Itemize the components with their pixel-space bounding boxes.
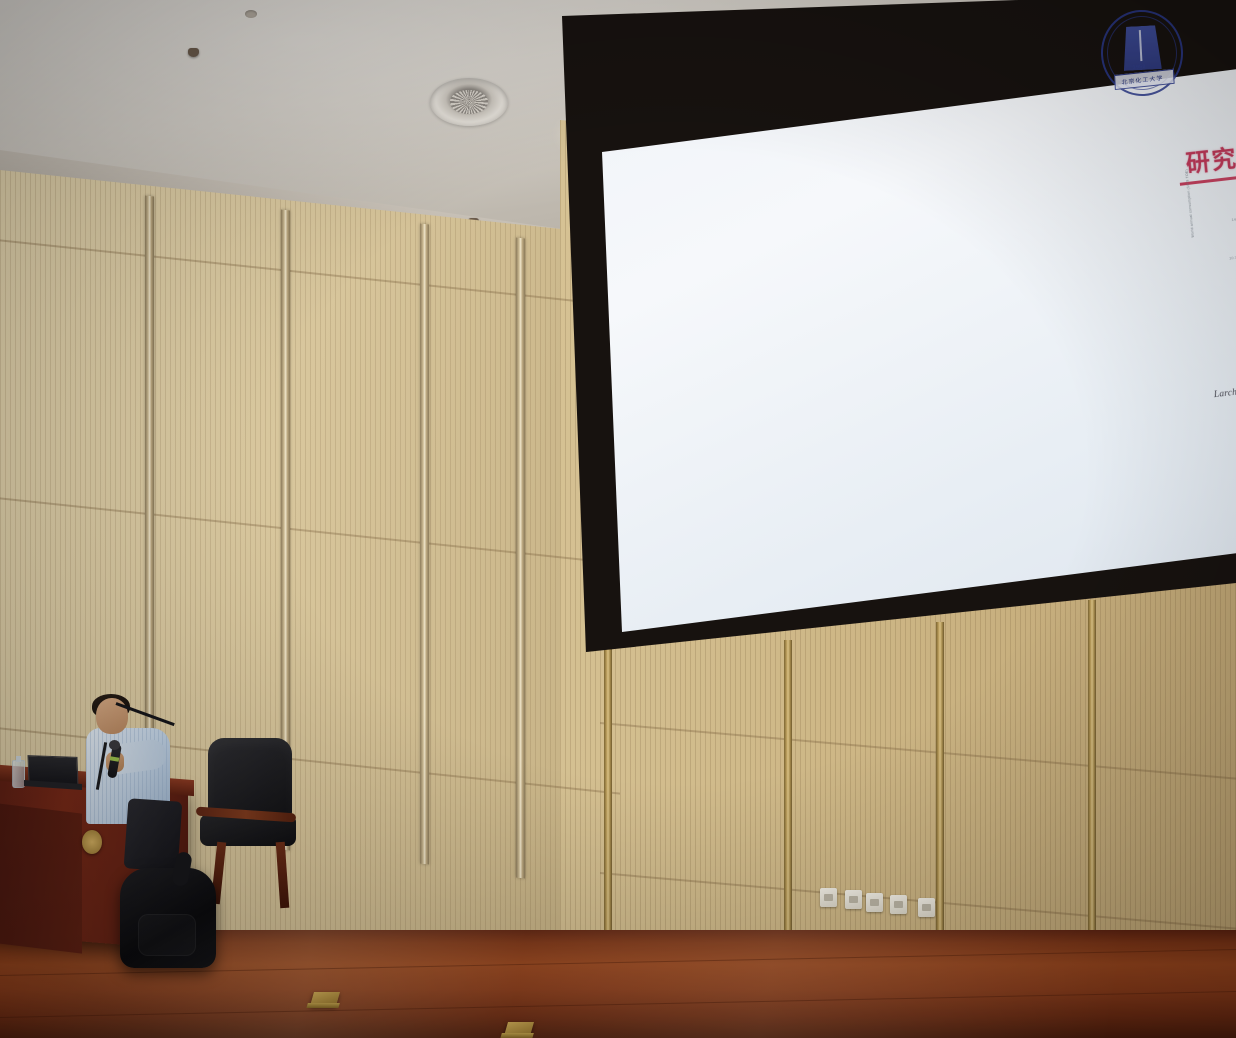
wall-plate-2[interactable] xyxy=(845,890,862,909)
wall-metal-strip xyxy=(420,224,429,865)
sprinkler-head-icon xyxy=(188,48,199,57)
university-logo: 1958 北京化工大学 xyxy=(1099,8,1185,98)
chart-ytick-2: 10.7 xyxy=(1229,255,1236,261)
hvac-vent-icon xyxy=(430,78,508,126)
wall-plate-face xyxy=(922,904,931,911)
energy-consumption-chart: World annual consumption (10^9 TOE) 14 1… xyxy=(1205,192,1236,378)
wall-metal-strip xyxy=(516,238,525,879)
projection-screen: 研究背景 ——清洁能源 World annual consumption (10… xyxy=(556,0,1236,672)
wall-plate-1[interactable] xyxy=(820,888,837,907)
ceiling-fixture-icon xyxy=(245,10,257,18)
logo-year: 1958 xyxy=(1133,64,1146,71)
presenter-head xyxy=(96,698,128,734)
presenter-legs xyxy=(124,798,183,872)
wall-plate-3[interactable] xyxy=(866,893,883,912)
backpack[interactable] xyxy=(120,868,216,968)
lectern-emblem-icon xyxy=(82,830,102,854)
slide-title-main: 研究背景 xyxy=(1184,132,1236,179)
office-chair[interactable] xyxy=(200,738,298,874)
wall-plate-4[interactable] xyxy=(890,895,907,914)
fuel-cell-diagram: H₂ O₂ xyxy=(1220,379,1236,534)
floor-socket-icon[interactable] xyxy=(310,992,340,1006)
wall-plate-face xyxy=(824,894,833,901)
wall-brass-strip xyxy=(784,640,792,960)
chart-ytick-3: 14 xyxy=(1231,217,1236,222)
wall-plate-face xyxy=(894,901,903,908)
wall-plate-5[interactable] xyxy=(918,898,935,917)
wall-plate-face xyxy=(870,899,879,906)
logo-ribbon-text: 北京化工大学 xyxy=(1121,73,1163,86)
microphone-head-icon xyxy=(109,740,120,750)
lecture-hall-photo: 研究背景 ——清洁能源 World annual consumption (10… xyxy=(0,0,1236,1038)
wall-plate-face xyxy=(849,896,858,903)
lectern-side-panel xyxy=(0,802,82,953)
floor-socket-icon[interactable] xyxy=(504,1022,534,1036)
